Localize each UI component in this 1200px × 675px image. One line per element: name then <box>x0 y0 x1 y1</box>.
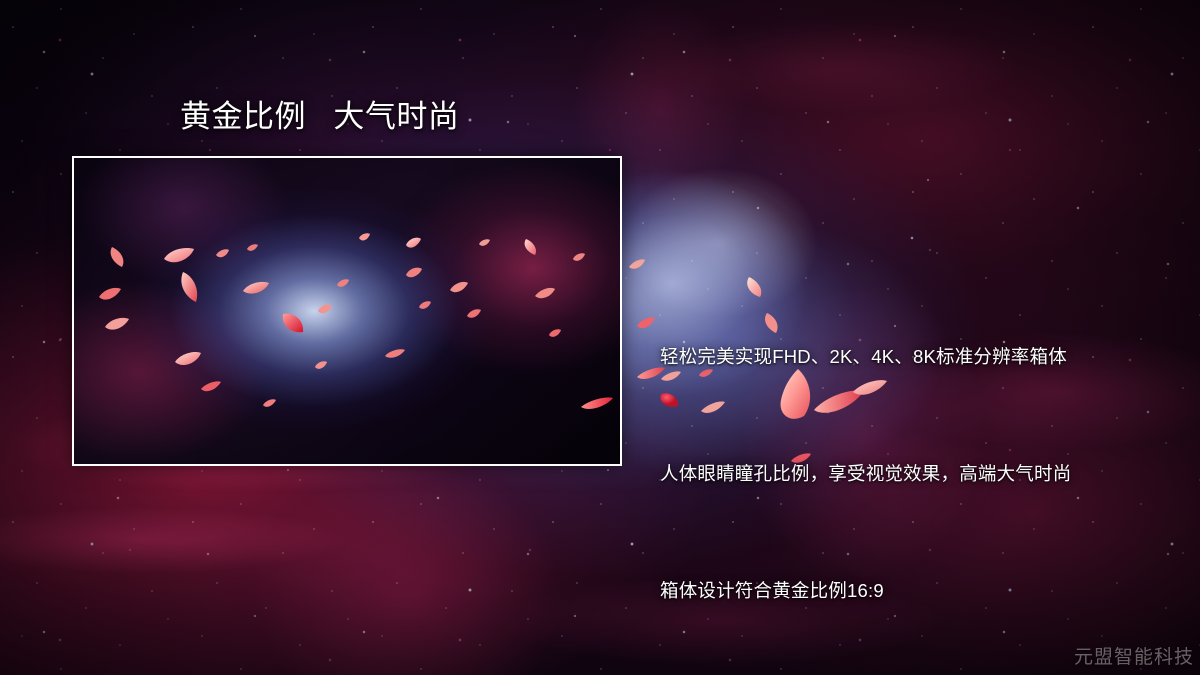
slide-headline: 黄金比例 大气时尚 <box>180 101 459 132</box>
body-line-3: 箱体设计符合黄金比例16:9 <box>660 571 1160 610</box>
company-watermark: 元盟智能科技 <box>1074 642 1194 669</box>
body-line-2: 人体眼睛瞳孔比例，享受视觉效果，高端大气时尚 <box>660 454 1160 493</box>
body-copy: 轻松完美实现FHD、2K、4K、8K标准分辨率箱体 人体眼睛瞳孔比例，享受视觉效… <box>660 259 1160 675</box>
panel-nebula-wisps <box>74 158 620 464</box>
presentation-slide: 黄金比例 大气时尚 <box>0 0 1200 675</box>
nebula-photo-frame <box>72 156 622 466</box>
body-line-1: 轻松完美实现FHD、2K、4K、8K标准分辨率箱体 <box>660 337 1160 376</box>
petal-icon <box>636 316 656 332</box>
petal-icon <box>628 258 646 272</box>
